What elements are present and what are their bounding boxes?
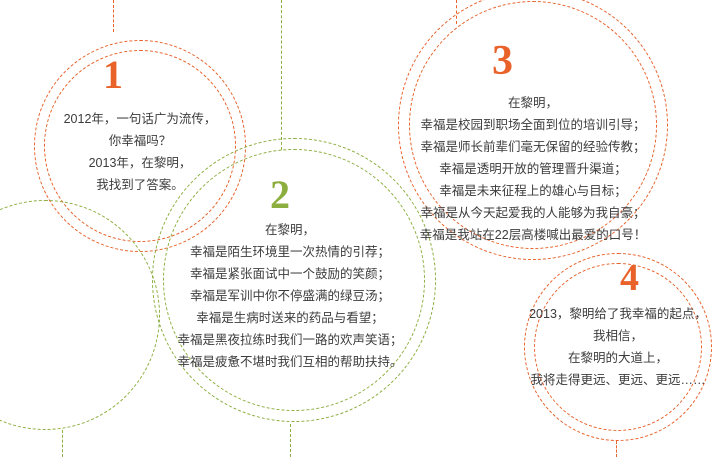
section-2-line-3: 幸福是紧张面试中一个鼓励的笑颜； bbox=[140, 263, 440, 285]
section-4-line-2: 我相信， bbox=[518, 325, 717, 347]
section-3-line-3: 幸福是师长前辈们毫无保留的经验传教； bbox=[383, 136, 683, 158]
section-2-number: 2 bbox=[270, 175, 290, 215]
section-2-line-5: 幸福是生病时送来的药品与看望； bbox=[140, 307, 440, 329]
guide-line-bottom-right bbox=[616, 441, 617, 457]
section-3-line-7: 幸福是我站在22层高楼喊出最爱的口号！ bbox=[383, 224, 683, 246]
section-2-line-7: 幸福是疲惫不堪时我们互相的帮助扶持。 bbox=[140, 351, 440, 373]
section-3-line-4: 幸福是透明开放的管理晋升渠道； bbox=[383, 158, 683, 180]
section-4-number: 4 bbox=[620, 259, 639, 297]
section-3-text: 在黎明， 幸福是校园到职场全面到位的培训引导； 幸福是师长前辈们毫无保留的经验传… bbox=[383, 92, 683, 246]
section-1-line-3: 2013年，在黎明， bbox=[40, 152, 240, 174]
section-4-line-1: 2013，黎明给了我幸福的起点， bbox=[518, 303, 717, 325]
section-4-text: 2013，黎明给了我幸福的起点， 我相信， 在黎明的大道上， 我将走得更远、更远… bbox=[518, 303, 717, 391]
guide-line-mid bbox=[281, 0, 282, 150]
section-1-number: 1 bbox=[103, 55, 123, 95]
section-1-line-4: 我找到了答案。 bbox=[40, 174, 240, 196]
section-1-text: 2012年，一句话广为流传， 你幸福吗？ 2013年，在黎明， 我找到了答案。 bbox=[40, 108, 240, 196]
section-3-number: 3 bbox=[492, 40, 513, 82]
guide-line-bottom-mid bbox=[290, 424, 291, 457]
infographic-canvas: 1 2012年，一句话广为流传， 你幸福吗？ 2013年，在黎明， 我找到了答案… bbox=[0, 0, 717, 457]
section-4-line-4: 我将走得更远、更远、更远…… bbox=[518, 369, 717, 391]
guide-line-right bbox=[456, 0, 457, 24]
guide-line-left bbox=[113, 0, 114, 32]
section-2-line-4: 幸福是军训中你不停盛满的绿豆汤； bbox=[140, 285, 440, 307]
section-1-line-1: 2012年，一句话广为流传， bbox=[40, 108, 240, 130]
section-3-line-6: 幸福是从今天起爱我的人能够为我自豪； bbox=[383, 202, 683, 224]
section-2-line-6: 幸福是黑夜拉练时我们一路的欢声笑语； bbox=[140, 329, 440, 351]
section-3-line-1: 在黎明， bbox=[383, 92, 683, 114]
section-1-line-2: 你幸福吗？ bbox=[40, 130, 240, 152]
section-4-line-3: 在黎明的大道上， bbox=[518, 347, 717, 369]
guide-line-bottom-left bbox=[62, 430, 63, 457]
section-3-line-2: 幸福是校园到职场全面到位的培训引导； bbox=[383, 114, 683, 136]
section-3-line-5: 幸福是未来征程上的雄心与目标； bbox=[383, 180, 683, 202]
